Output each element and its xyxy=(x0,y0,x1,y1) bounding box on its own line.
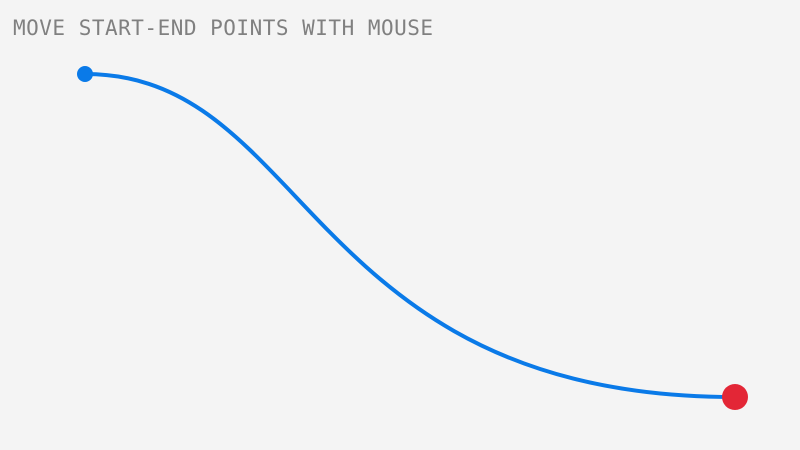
start-point-handle[interactable] xyxy=(77,66,93,82)
bezier-canvas[interactable] xyxy=(0,0,800,450)
end-point-handle[interactable] xyxy=(722,384,748,410)
page-title: MOVE START-END POINTS WITH MOUSE xyxy=(13,15,434,41)
canvas-background xyxy=(0,0,800,450)
demo-stage: MOVE START-END POINTS WITH MOUSE xyxy=(0,0,800,450)
